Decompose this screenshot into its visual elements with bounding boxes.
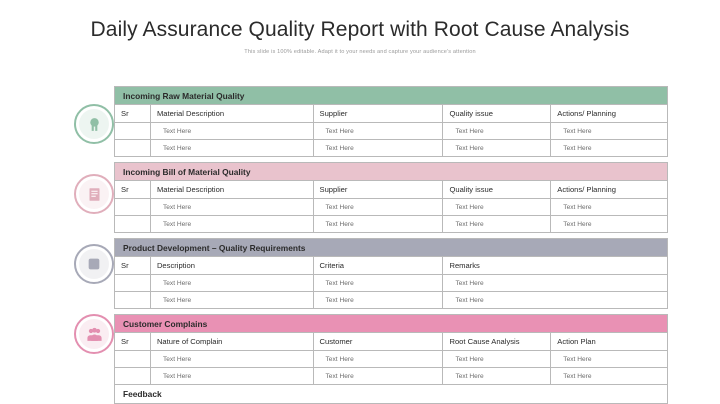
cell-value[interactable]: Text Here xyxy=(313,275,443,292)
cell-value[interactable]: Text Here xyxy=(443,123,551,140)
table-row[interactable]: Text HereText HereText Here xyxy=(115,292,668,309)
column-header: Customer xyxy=(313,333,443,351)
cell-value[interactable]: Text Here xyxy=(150,216,313,233)
section-product-development-quality-requirements: Product Development – Quality Requiremen… xyxy=(114,238,668,309)
column-header: Quality issue xyxy=(443,181,551,199)
column-header: Sr xyxy=(115,105,151,123)
column-header: Material Description xyxy=(150,105,313,123)
column-header: Sr xyxy=(115,333,151,351)
cell-sr[interactable] xyxy=(115,292,151,309)
cell-value[interactable]: Text Here xyxy=(443,199,551,216)
cell-value[interactable]: Text Here xyxy=(551,123,668,140)
cell-value[interactable]: Text Here xyxy=(551,199,668,216)
cell-value[interactable]: Text Here xyxy=(150,123,313,140)
cell-value[interactable]: Text Here xyxy=(551,216,668,233)
column-header: Remarks xyxy=(443,257,668,275)
column-header: Nature of Complain xyxy=(150,333,313,351)
award-badge-icon-glyph xyxy=(86,116,103,133)
table-incoming-bill-of-material-quality: SrMaterial DescriptionSupplierQuality is… xyxy=(114,180,668,233)
section-title-label: Product Development – Quality Requiremen… xyxy=(123,243,305,253)
cell-value[interactable]: Text Here xyxy=(443,275,668,292)
cell-value[interactable]: Text Here xyxy=(313,199,443,216)
cell-value[interactable]: Text Here xyxy=(313,123,443,140)
table-header-row: SrMaterial DescriptionSupplierQuality is… xyxy=(115,105,668,123)
cell-value[interactable]: Text Here xyxy=(443,368,551,385)
column-header: Description xyxy=(150,257,313,275)
table-row[interactable]: Text HereText HereText HereText Here xyxy=(115,216,668,233)
section-incoming-bill-of-material-quality: Incoming Bill of Material QualitySrMater… xyxy=(114,162,668,233)
table-customer-complains: SrNature of ComplainCustomerRoot Cause A… xyxy=(114,332,668,385)
cell-value[interactable]: Text Here xyxy=(150,351,313,368)
customer-group-icon-glyph xyxy=(86,326,103,343)
cell-sr[interactable] xyxy=(115,199,151,216)
cell-value[interactable]: Text Here xyxy=(150,292,313,309)
customer-group-icon xyxy=(74,314,114,354)
table-header-row: SrDescriptionCriteriaRemarks xyxy=(115,257,668,275)
cell-sr[interactable] xyxy=(115,275,151,292)
section-header-product-development-quality-requirements: Product Development – Quality Requiremen… xyxy=(114,238,668,256)
cell-value[interactable]: Text Here xyxy=(443,292,668,309)
table-row[interactable]: Text HereText HereText HereText Here xyxy=(115,199,668,216)
column-header: Sr xyxy=(115,181,151,199)
section-header-incoming-raw-material-quality: Incoming Raw Material Quality xyxy=(114,86,668,104)
award-badge-icon xyxy=(74,104,114,144)
section-header-incoming-bill-of-material-quality: Incoming Bill of Material Quality xyxy=(114,162,668,180)
column-header: Supplier xyxy=(313,181,443,199)
report-sheet: Incoming Raw Material QualitySrMaterial … xyxy=(114,86,668,404)
table-row[interactable]: Text HereText HereText HereText Here xyxy=(115,368,668,385)
feedback-label: Feedback xyxy=(123,389,162,399)
page-title: Daily Assurance Quality Report with Root… xyxy=(0,17,720,42)
cell-value[interactable]: Text Here xyxy=(443,216,551,233)
cell-value[interactable]: Text Here xyxy=(313,292,443,309)
cell-value[interactable]: Text Here xyxy=(551,351,668,368)
cell-value[interactable]: Text Here xyxy=(150,275,313,292)
section-incoming-raw-material-quality: Incoming Raw Material QualitySrMaterial … xyxy=(114,86,668,157)
cell-value[interactable]: Text Here xyxy=(313,140,443,157)
column-header: Root Cause Analysis xyxy=(443,333,551,351)
cell-value[interactable]: Text Here xyxy=(443,351,551,368)
table-row[interactable]: Text HereText HereText HereText Here xyxy=(115,140,668,157)
feedback-row[interactable]: Feedback xyxy=(114,385,668,404)
column-header: Supplier xyxy=(313,105,443,123)
cell-value[interactable]: Text Here xyxy=(150,368,313,385)
document-list-icon xyxy=(74,174,114,214)
table-header-row: SrNature of ComplainCustomerRoot Cause A… xyxy=(115,333,668,351)
cell-value[interactable]: Text Here xyxy=(313,368,443,385)
page-subtitle: This slide is 100% editable. Adapt it to… xyxy=(0,49,720,55)
table-incoming-raw-material-quality: SrMaterial DescriptionSupplierQuality is… xyxy=(114,104,668,157)
document-list-icon-glyph xyxy=(87,186,102,203)
section-title-label: Customer Complains xyxy=(123,319,207,329)
section-title-label: Incoming Bill of Material Quality xyxy=(123,167,251,177)
section-title-label: Incoming Raw Material Quality xyxy=(123,91,244,101)
section-header-customer-complains: Customer Complains xyxy=(114,314,668,332)
column-header: Quality issue xyxy=(443,105,551,123)
icon-rail xyxy=(74,86,116,386)
column-header: Material Description xyxy=(150,181,313,199)
product-box-icon xyxy=(74,244,114,284)
cell-value[interactable]: Text Here xyxy=(313,351,443,368)
cell-value[interactable]: Text Here xyxy=(313,216,443,233)
cell-value[interactable]: Text Here xyxy=(150,199,313,216)
product-box-icon-glyph xyxy=(86,256,102,272)
column-header: Action Plan xyxy=(551,333,668,351)
cell-sr[interactable] xyxy=(115,216,151,233)
title-block: Daily Assurance Quality Report with Root… xyxy=(0,0,720,55)
table-row[interactable]: Text HereText HereText Here xyxy=(115,275,668,292)
cell-value[interactable]: Text Here xyxy=(551,140,668,157)
cell-value[interactable]: Text Here xyxy=(443,140,551,157)
table-product-development-quality-requirements: SrDescriptionCriteriaRemarksText HereTex… xyxy=(114,256,668,309)
table-row[interactable]: Text HereText HereText HereText Here xyxy=(115,351,668,368)
column-header: Criteria xyxy=(313,257,443,275)
section-customer-complains: Customer ComplainsSrNature of ComplainCu… xyxy=(114,314,668,385)
column-header: Actions/ Planning xyxy=(551,181,668,199)
column-header: Actions/ Planning xyxy=(551,105,668,123)
cell-sr[interactable] xyxy=(115,123,151,140)
cell-value[interactable]: Text Here xyxy=(150,140,313,157)
column-header: Sr xyxy=(115,257,151,275)
cell-sr[interactable] xyxy=(115,140,151,157)
cell-sr[interactable] xyxy=(115,368,151,385)
table-header-row: SrMaterial DescriptionSupplierQuality is… xyxy=(115,181,668,199)
table-row[interactable]: Text HereText HereText HereText Here xyxy=(115,123,668,140)
cell-sr[interactable] xyxy=(115,351,151,368)
cell-value[interactable]: Text Here xyxy=(551,368,668,385)
